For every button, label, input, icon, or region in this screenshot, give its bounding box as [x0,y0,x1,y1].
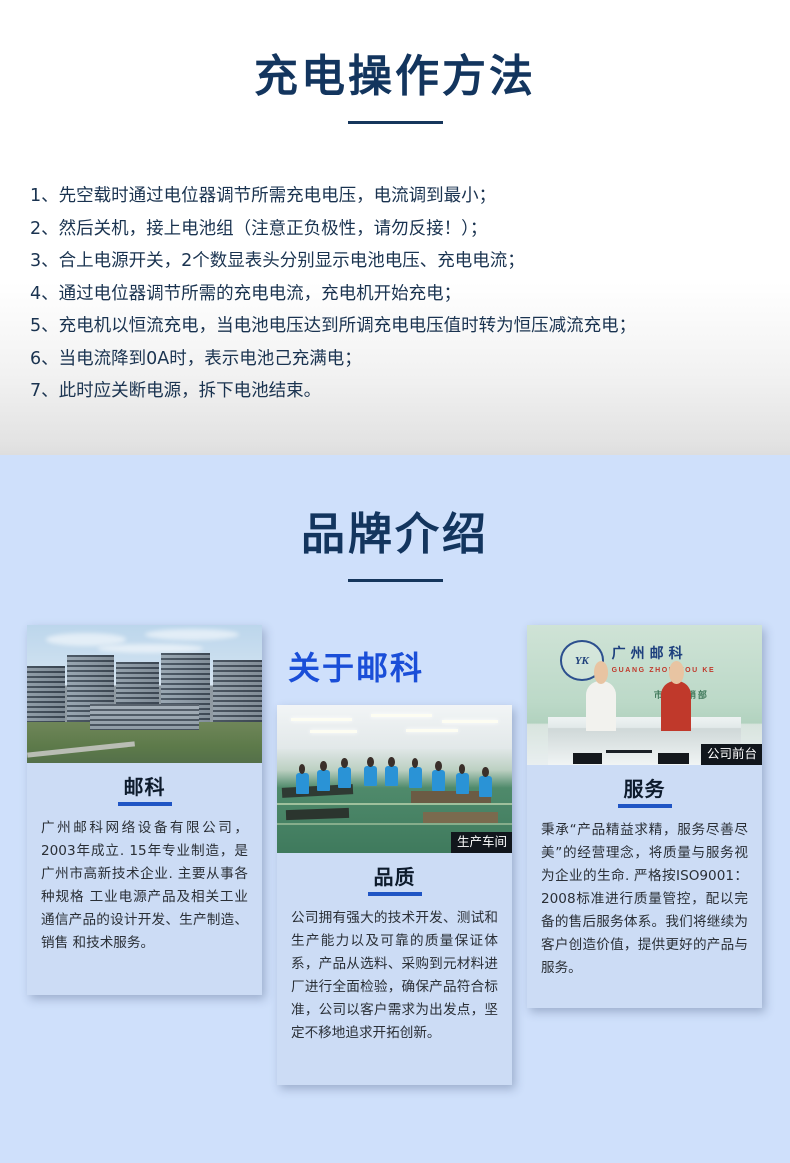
brand-card-company: 邮科 广州邮科网络设备有限公司，2003年成立. 15年专业制造，是广州市高新技… [27,625,262,995]
list-item: 6、当电流降到0A时，表示电池己充满电； [30,343,770,376]
charging-operation-section: 充电操作方法 1、先空载时通过电位器调节所需充电电压，电流调到最小； 2、然后关… [0,0,790,455]
card-title: 服务 [541,777,748,801]
photo-caption: 生产车间 [451,832,512,853]
company-reception-photo: YK 广州邮科 GUANG ZHOU YOU KE 市场营销部 公司前台 [527,625,762,765]
card-title: 邮科 [41,775,248,799]
title-underline-rule [348,579,443,582]
brand-card-quality: 生产车间 品质 公司拥有强大的技术开发、测试和生产能力以及可靠的质量保证体系，产… [277,705,512,1085]
brand-card-service: YK 广州邮科 GUANG ZHOU YOU KE 市场营销部 公司前台 服务 … [527,625,762,1008]
card-title-underline [618,804,672,808]
card-body: 邮科 广州邮科网络设备有限公司，2003年成立. 15年专业制造，是广州市高新技… [27,763,262,965]
card-title: 品质 [291,865,498,889]
operation-steps-list: 1、先空载时通过电位器调节所需充电电压，电流调到最小； 2、然后关机，接上电池组… [30,180,770,408]
receptionist-left [586,681,617,731]
card-description: 广州邮科网络设备有限公司，2003年成立. 15年专业制造，是广州市高新技术企业… [41,817,248,955]
list-item: 2、然后关机，接上电池组（注意正负极性，请勿反接！）； [30,213,770,246]
receptionist-right [661,681,692,731]
list-item: 7、此时应关断电源，拆下电池结束。 [30,375,770,408]
section-header-brand: 品牌介绍 [0,455,790,582]
sign-company-en: GUANG ZHOU YOU KE [612,667,716,674]
factory-workshop-photo: 生产车间 [277,705,512,853]
card-body: 品质 公司拥有强大的技术开发、测试和生产能力以及可靠的质量保证体系，产品从选料、… [277,853,512,1055]
brand-section-title: 品牌介绍 [0,513,790,557]
section-header-ops: 充电操作方法 [0,0,790,124]
list-item: 5、充电机以恒流充电，当电池电压达到所调充电电压值时转为恒压减流充电； [30,310,770,343]
list-item: 4、通过电位器调节所需的充电电流，充电机开始充电； [30,278,770,311]
card-title-underline [368,892,422,896]
product-detail-page: 充电操作方法 1、先空载时通过电位器调节所需充电电压，电流调到最小； 2、然后关… [0,0,790,1163]
office-building-photo [27,625,262,763]
page-title: 充电操作方法 [0,55,790,99]
card-description: 秉承“产品精益求精，服务尽善尽美”的经营理念，将质量与服务视为企业的生命. 严格… [541,819,748,980]
card-title-underline [118,802,172,806]
card-description: 公司拥有强大的技术开发、测试和生产能力以及可靠的质量保证体系，产品从选料、采购到… [291,907,498,1045]
brand-cards-group: 邮科 广州邮科网络设备有限公司，2003年成立. 15年专业制造，是广州市高新技… [0,625,790,1105]
list-item: 3、合上电源开关，2个数显表头分别显示电池电压、充电电流； [30,245,770,278]
list-item: 1、先空载时通过电位器调节所需充电电压，电流调到最小； [30,180,770,213]
photo-caption: 公司前台 [701,744,762,765]
title-underline-rule [348,121,443,124]
card-body: 服务 秉承“产品精益求精，服务尽善尽美”的经营理念，将质量与服务视为企业的生命.… [527,765,762,990]
